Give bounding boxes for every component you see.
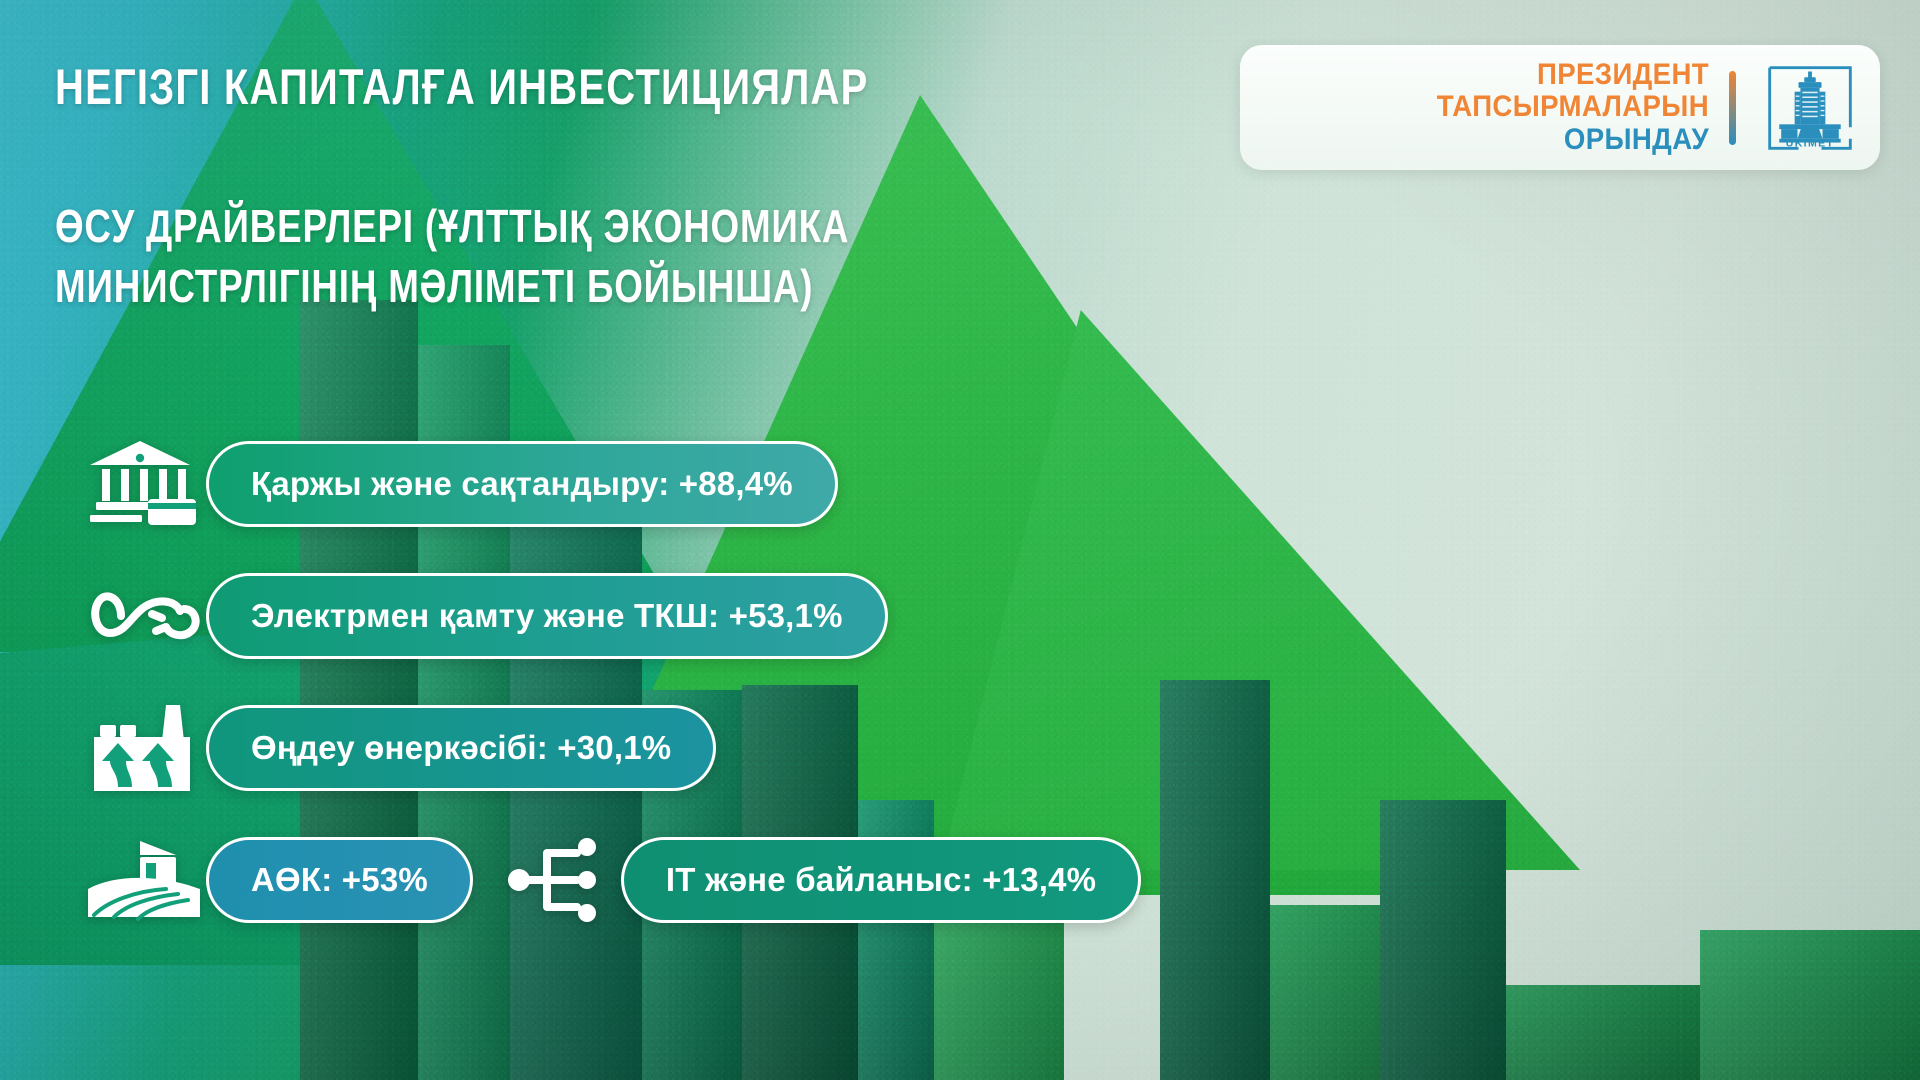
badge-divider	[1729, 71, 1736, 145]
farm-field-icon	[88, 834, 206, 926]
badge-line-1: ПРЕЗИДЕНТ ТАПСЫРМАЛАРЫН	[1309, 59, 1709, 124]
list-item: Электрмен қамту және ТКШ: +53,1%	[0, 550, 1920, 682]
it-network-icon	[507, 835, 603, 925]
badge-line-2: ОРЫНДАУ	[1309, 124, 1709, 156]
page-subtitle-line2: МИНИСТРЛІГІНІҢ МӘЛІМЕТІ БОЙЫНША)	[55, 256, 849, 316]
president-tasks-badge: ПРЕЗИДЕНТ ТАПСЫРМАЛАРЫН ОРЫНДАУ	[1240, 45, 1880, 170]
driver-pill-finance[interactable]: Қаржы және сақтандыру: +88,4%	[206, 441, 838, 527]
drivers-list: Қаржы және сақтандыру: +88,4% Электрмен …	[0, 418, 1920, 946]
driver-pill-it[interactable]: IT және байланыс: +13,4%	[621, 837, 1141, 923]
list-item: АӨК: +53% IT және байланыс: +13,4%	[0, 814, 1920, 946]
driver-pill-agriculture[interactable]: АӨК: +53%	[206, 837, 473, 923]
factory-growth-icon	[88, 702, 206, 794]
page-title: НЕГІЗГІ КАПИТАЛҒА ИНВЕСТИЦИЯЛАР	[55, 58, 868, 116]
driver-pill-electricity[interactable]: Электрмен қамту және ТКШ: +53,1%	[206, 573, 888, 659]
page-subtitle: ӨСУ ДРАЙВЕРЛЕРІ (ҰЛТТЫҚ ЭКОНОМИКА МИНИСТ…	[55, 196, 849, 316]
page-subtitle-line1: ӨСУ ДРАЙВЕРЛЕРІ (ҰЛТТЫҚ ЭКОНОМИКА	[55, 196, 849, 256]
driver-pill-manufacturing[interactable]: Өңдеу өнеркәсібі: +30,1%	[206, 705, 716, 791]
ukimet-logo-label: UKIMET	[1786, 137, 1835, 149]
list-item: Қаржы және сақтандыру: +88,4%	[0, 418, 1920, 550]
ukimet-logo-icon: UKIMET	[1762, 60, 1858, 156]
badge-text: ПРЕЗИДЕНТ ТАПСЫРМАЛАРЫН ОРЫНДАУ	[1274, 59, 1729, 156]
bank-card-icon	[88, 438, 206, 530]
list-item: Өңдеу өнеркәсібі: +30,1%	[0, 682, 1920, 814]
power-cable-icon	[88, 570, 206, 662]
